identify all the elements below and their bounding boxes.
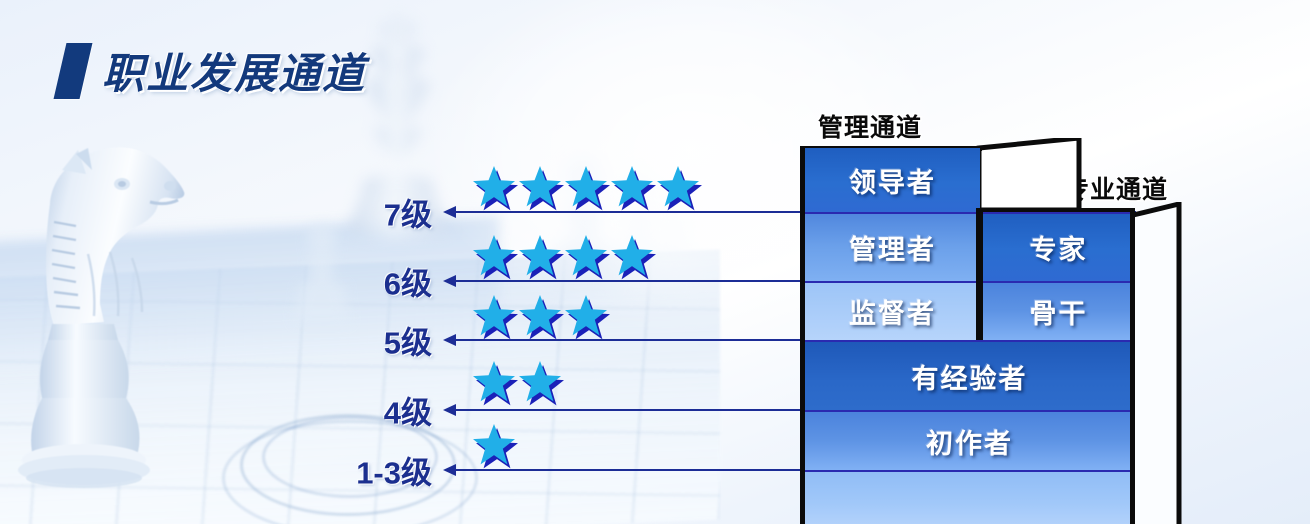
star-row-level-1-3 <box>473 424 515 466</box>
page-title: 职业发展通道 <box>60 40 366 101</box>
heading-management-track: 管理通道 <box>818 108 922 144</box>
star-icon <box>611 166 653 208</box>
band-beginner: 初作者 <box>800 410 1134 470</box>
band-leader: 领导者 <box>800 148 980 212</box>
band-supervisor: 监督者 <box>800 281 980 340</box>
column-divider <box>976 208 981 340</box>
star-icon <box>473 235 515 277</box>
band-label-leader: 领导者 <box>849 161 936 200</box>
star-icon <box>657 166 699 208</box>
band-manager: 管理者 <box>800 212 980 281</box>
ladder-right-edge <box>1130 208 1135 524</box>
arrow-head-level-7 <box>443 206 456 218</box>
star-icon <box>519 235 561 277</box>
arrow-head-level-5 <box>443 334 456 346</box>
band-backbone: 骨干 <box>978 281 1134 340</box>
star-icon <box>473 424 515 466</box>
star-icon <box>519 361 561 403</box>
star-row-level-5 <box>473 295 607 337</box>
band-label-experienced: 有经验者 <box>912 357 1028 396</box>
band-expert: 专家 <box>978 212 1134 281</box>
star-row-level-4 <box>473 361 561 403</box>
star-row-level-6 <box>473 235 653 277</box>
arrow-head-level-1-3 <box>443 464 456 476</box>
band-experienced: 有经验者 <box>800 340 1134 410</box>
band-label-manager: 管理者 <box>849 228 936 267</box>
chess-knight-foreground <box>18 126 228 516</box>
star-icon <box>565 295 607 337</box>
level-label-6: 6级 <box>312 259 432 304</box>
level-label-7: 7级 <box>312 190 432 235</box>
star-icon <box>473 166 515 208</box>
level-label-4: 4级 <box>312 388 432 433</box>
star-icon <box>473 361 515 403</box>
band-base <box>800 470 1134 524</box>
band-label-backbone: 骨干 <box>1030 292 1088 331</box>
leader-block-3d-side <box>975 138 1085 218</box>
title-accent-bar <box>54 43 93 99</box>
star-icon <box>519 295 561 337</box>
arrow-head-level-4 <box>443 404 456 416</box>
star-icon <box>473 295 515 337</box>
band-label-beginner: 初作者 <box>926 422 1013 461</box>
star-icon <box>565 166 607 208</box>
title-text: 职业发展通道 <box>102 40 366 101</box>
star-icon <box>611 235 653 277</box>
career-path-infographic: 职业发展通道 7级 6级 5级 4级 1-3级 管理通道 <box>0 0 1310 524</box>
level-label-5: 5级 <box>312 318 432 363</box>
career-ladder-diagram: 领导者 管理者 专家 监督者 骨干 有经验者 <box>800 146 1310 524</box>
band-label-supervisor: 监督者 <box>849 292 936 331</box>
level-label-1-3: 1-3级 <box>312 448 432 493</box>
star-row-level-7 <box>473 166 699 208</box>
arrow-head-level-6 <box>443 275 456 287</box>
star-icon <box>519 166 561 208</box>
band-label-expert: 专家 <box>1030 228 1088 267</box>
star-icon <box>565 235 607 277</box>
